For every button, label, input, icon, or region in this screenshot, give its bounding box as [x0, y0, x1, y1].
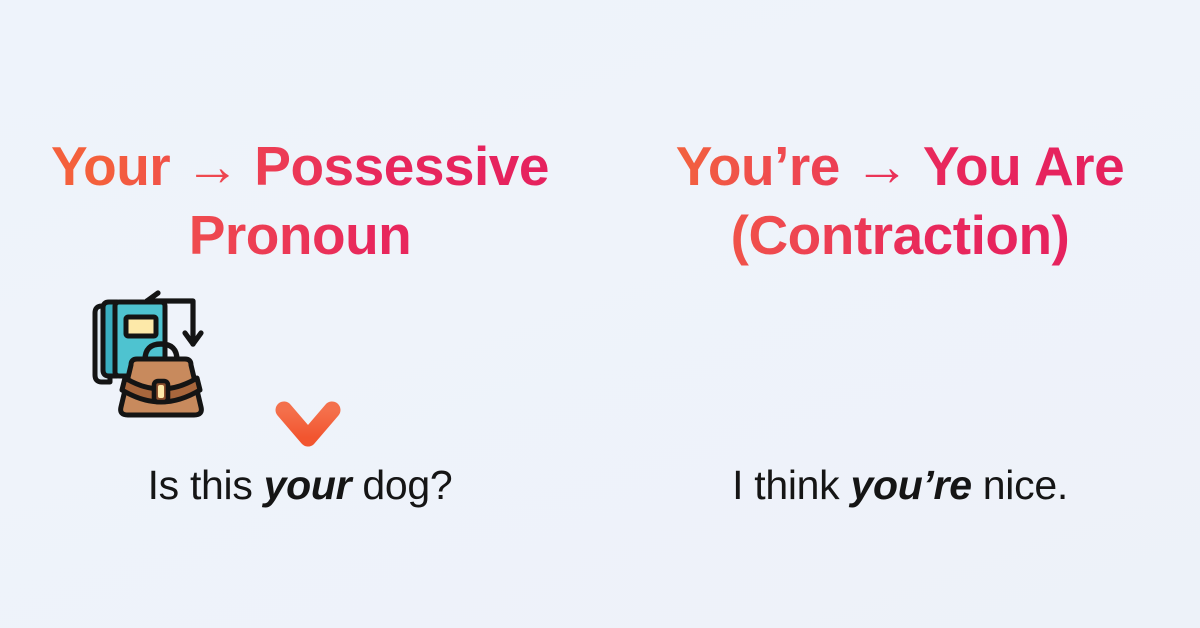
example-emphasis: your: [264, 462, 352, 508]
example-sentence-youre: I think you’re nice.: [600, 459, 1200, 511]
example-sentence-your: Is this your dog?: [0, 459, 690, 511]
panel-your: Your → Possessive Pronoun: [0, 0, 600, 628]
heading-youre: You’re → You Are (Contraction): [600, 132, 1200, 270]
heading-your: Your → Possessive Pronoun: [0, 132, 600, 270]
example-suffix: dog?: [351, 462, 452, 508]
example-emphasis: you’re: [850, 462, 971, 508]
comparison-infographic: Your → Possessive Pronoun: [0, 0, 1200, 628]
example-prefix: I think: [732, 462, 850, 508]
example-prefix: Is this: [148, 462, 264, 508]
down-arrow-icon: [272, 278, 344, 450]
example-suffix: nice.: [972, 462, 1068, 508]
book-and-briefcase-icon: [85, 282, 235, 422]
panel-youre: You’re → You Are (Contraction): [600, 0, 1200, 628]
